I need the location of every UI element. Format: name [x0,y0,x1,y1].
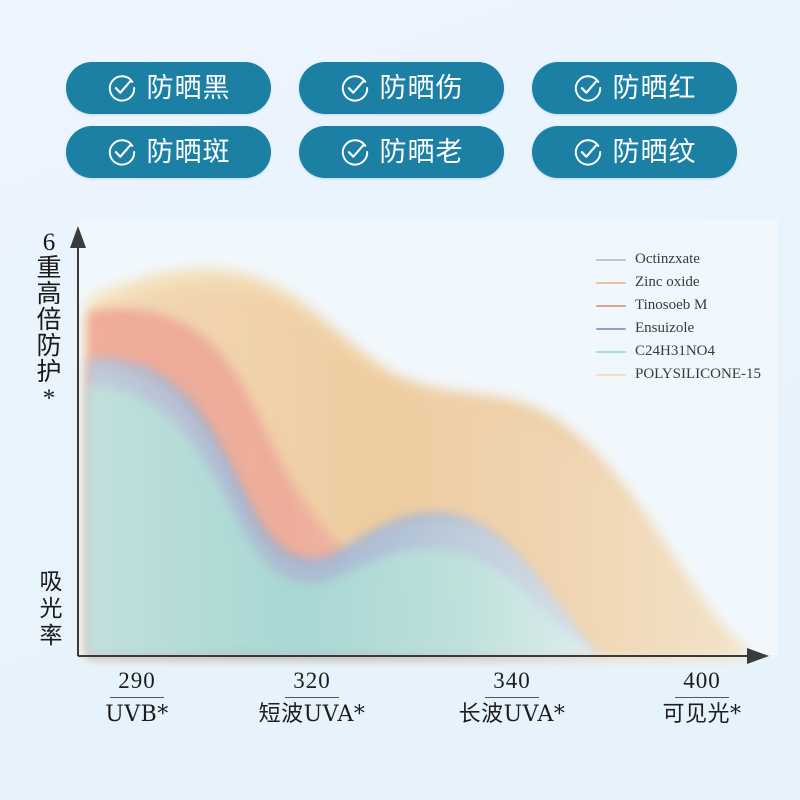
y-axis-label-char: 防 [32,334,66,360]
protection-badge-grid: 防晒黑 防晒伤 防晒红 防晒斑 [66,62,766,178]
badge-fangshaiban[interactable]: 防晒斑 [66,126,271,178]
legend-swatch-icon [596,305,626,307]
x-tick-value: 290 [62,668,212,694]
legend-item[interactable]: POLYSILICONE-15 [596,363,796,386]
x-tick-value: 400 [627,668,777,694]
legend-label: Zinc oxide [635,274,700,291]
check-circle-icon [107,73,137,103]
y-axis-label-char: 护 [32,360,66,386]
x-tick-name: 长波UVA* [437,703,587,727]
badge-label: 防晒黑 [147,75,231,102]
y-axis-label-char: 光 [34,595,68,622]
x-tick-340: 340 长波UVA* [437,668,587,727]
badge-fangshaishang[interactable]: 防晒伤 [299,62,504,114]
badge-fangshaihong[interactable]: 防晒红 [532,62,737,114]
badge-label: 防晒伤 [380,75,464,102]
legend-item[interactable]: Octinzxate [596,248,796,271]
legend-swatch-icon [596,282,626,284]
y-axis-bottom-label: 吸光率 [34,568,68,649]
badge-label: 防晒斑 [147,139,231,166]
legend-swatch-icon [596,351,626,353]
check-circle-icon [340,137,370,167]
legend-swatch-icon [596,328,626,330]
x-tick-rule [110,697,164,698]
y-axis-label-char: * [32,386,66,412]
absorbance-spectrum-chart: 6重高倍防护* 吸光率 Octinzxate Zinc oxide Tinoso… [0,210,800,770]
badge-fangshaihei[interactable]: 防晒黑 [66,62,271,114]
legend-item[interactable]: Ensuizole [596,317,796,340]
legend-swatch-icon [596,259,626,261]
legend-item[interactable]: C24H31NO4 [596,340,796,363]
legend-label: Tinosoeb M [635,297,707,314]
x-tick-name: 短波UVA* [237,703,387,727]
badge-fangshaiwen[interactable]: 防晒纹 [532,126,737,178]
x-tick-rule [485,697,539,698]
badge-fangshailao[interactable]: 防晒老 [299,126,504,178]
y-axis-top-label: 6重高倍防护* [32,230,66,412]
y-axis-label-char: 6 [32,230,66,256]
chart-legend: Octinzxate Zinc oxide Tinosoeb M Ensuizo… [596,248,796,386]
legend-item[interactable]: Zinc oxide [596,271,796,294]
check-circle-icon [340,73,370,103]
x-tick-rule [285,697,339,698]
check-circle-icon [107,137,137,167]
x-tick-290: 290 UVB* [62,668,212,727]
legend-label: C24H31NO4 [635,343,715,360]
legend-label: Octinzxate [635,251,700,268]
y-axis-top-label-text: 6重高倍防护* [32,230,66,412]
legend-label: Ensuizole [635,320,694,337]
legend-swatch-icon [596,374,626,376]
x-tick-name: UVB* [62,703,212,727]
x-tick-name: 可见光* [627,703,777,727]
y-axis-label-char: 吸 [34,568,68,595]
badge-label: 防晒老 [380,139,464,166]
check-circle-icon [573,73,603,103]
y-axis-bottom-label-text: 吸光率 [34,568,68,649]
y-axis-label-char: 率 [34,622,68,649]
x-tick-value: 320 [237,668,387,694]
x-tick-320: 320 短波UVA* [237,668,387,727]
sunscreen-infographic: 防晒黑 防晒伤 防晒红 防晒斑 [0,0,800,800]
y-axis-label-char: 高 [32,282,66,308]
check-circle-icon [573,137,603,167]
legend-item[interactable]: Tinosoeb M [596,294,796,317]
x-tick-rule [675,697,729,698]
y-axis-label-char: 倍 [32,308,66,334]
x-tick-value: 340 [437,668,587,694]
y-axis-label-char: 重 [32,256,66,282]
badge-label: 防晒红 [613,75,697,102]
badge-label: 防晒纹 [613,139,697,166]
legend-label: POLYSILICONE-15 [635,366,761,383]
x-tick-400: 400 可见光* [627,668,777,727]
